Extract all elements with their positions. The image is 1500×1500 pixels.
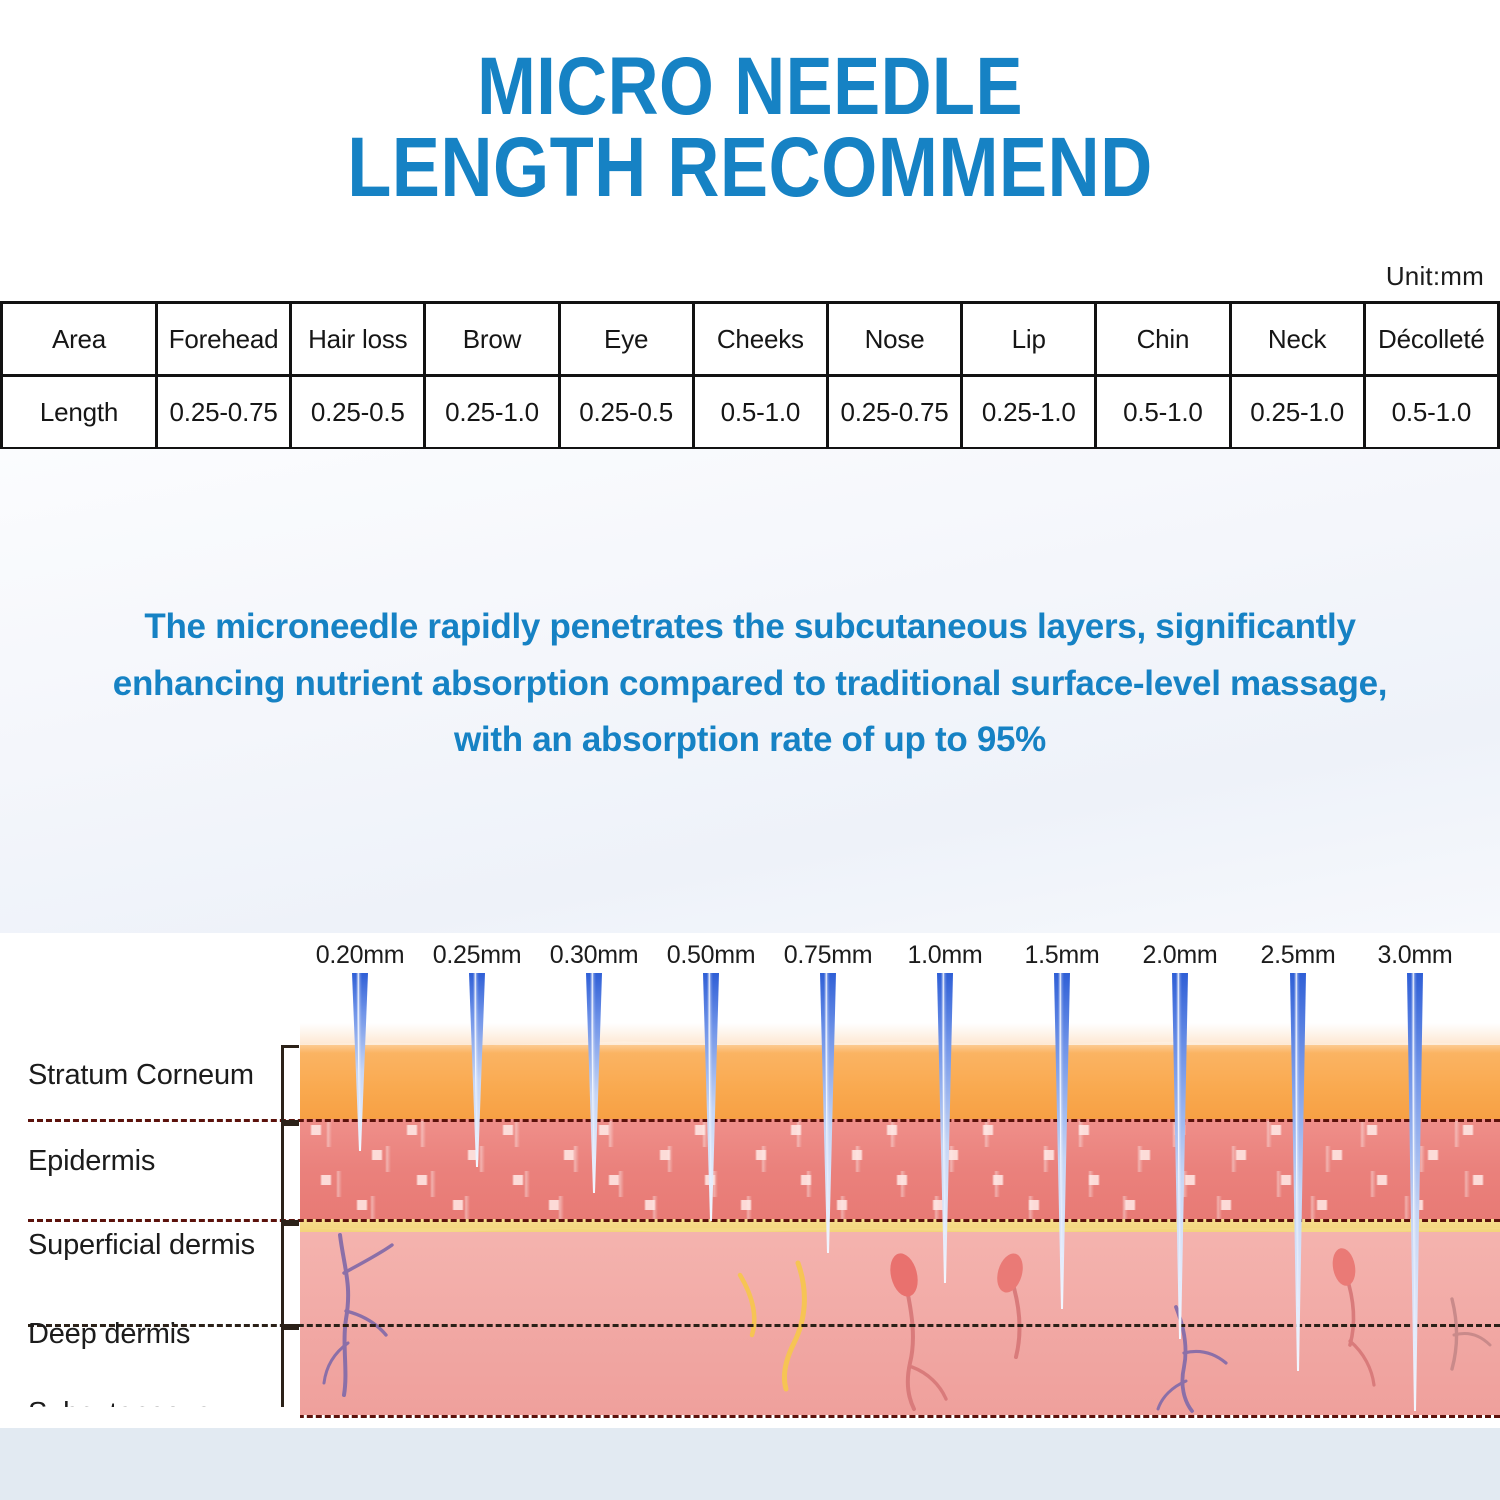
layer-label-deep-dermis: Deep dermis <box>28 1318 190 1352</box>
cell-area-forehead: Forehead <box>157 303 291 376</box>
layer-label-column: Stratum Corneum Epidermis Superficial de… <box>0 1023 300 1423</box>
cell-length-lip: 0.25-1.0 <box>962 376 1096 449</box>
needle-label-5: 1.0mm <box>908 941 983 970</box>
cell-area-hair-loss: Hair loss <box>291 303 425 376</box>
cell-area-eye: Eye <box>559 303 693 376</box>
epidermis-cell-row <box>300 1171 1500 1197</box>
cell-area-cheeks: Cheeks <box>693 303 827 376</box>
needle-label-row: 0.20mm 0.25mm 0.30mm 0.50mm 0.75mm 1.0mm… <box>0 941 1500 981</box>
cell-length-decollete: 0.5-1.0 <box>1364 376 1498 449</box>
needle-2 <box>574 973 614 1195</box>
needle-label-1: 0.25mm <box>433 941 522 970</box>
needle-label-4: 0.75mm <box>784 941 873 970</box>
cell-area-decollete: Décolleté <box>1364 303 1498 376</box>
cell-length-hair-loss: 0.25-0.5 <box>291 376 425 449</box>
cell-area-lip: Lip <box>962 303 1096 376</box>
layer-label-stratum-corneum: Stratum Corneum <box>28 1059 254 1093</box>
page-title: MICRO NEEDLE LENGTH RECOMMEND <box>0 48 1500 207</box>
needle-length-table: Area Forehead Hair loss Brow Eye Cheeks … <box>0 301 1500 450</box>
needle-6 <box>1042 973 1082 1311</box>
infographic-page: MICRO NEEDLE LENGTH RECOMMEND Unit:mm Ar… <box>0 0 1500 1500</box>
layer-superficial-dermis <box>300 1232 1500 1324</box>
bottom-strip <box>0 1428 1500 1500</box>
cell-length-brow: 0.25-1.0 <box>425 376 559 449</box>
cell-length-nose: 0.25-0.75 <box>827 376 961 449</box>
cell-area-chin: Chin <box>1096 303 1230 376</box>
layer-label-superficial-dermis: Superficial dermis <box>28 1229 255 1263</box>
row-header-length: Length <box>2 376 157 449</box>
needle-7 <box>1160 973 1200 1341</box>
needle-label-0: 0.20mm <box>316 941 405 970</box>
row-header-area: Area <box>2 303 157 376</box>
bracket-superficial-dermis <box>281 1223 299 1327</box>
cell-length-neck: 0.25-1.0 <box>1230 376 1364 449</box>
description-text: The microneedle rapidly penetrates the s… <box>100 599 1400 769</box>
needle-1 <box>457 973 497 1169</box>
cell-area-neck: Neck <box>1230 303 1364 376</box>
cell-length-forehead: 0.25-0.75 <box>157 376 291 449</box>
layer-deep-dermis <box>300 1324 1500 1415</box>
needle-5 <box>925 973 965 1285</box>
cell-length-eye: 0.25-0.5 <box>559 376 693 449</box>
table-row-area: Area Forehead Hair loss Brow Eye Cheeks … <box>2 303 1499 376</box>
needle-9 <box>1395 973 1435 1413</box>
cell-area-nose: Nose <box>827 303 961 376</box>
unit-caption: Unit:mm <box>1386 261 1484 292</box>
needle-8 <box>1278 973 1318 1373</box>
skin-cross-section-diagram: 0.20mm 0.25mm 0.30mm 0.50mm 0.75mm 1.0mm… <box>0 933 1500 1428</box>
cell-length-cheeks: 0.5-1.0 <box>693 376 827 449</box>
layer-label-epidermis: Epidermis <box>28 1145 155 1179</box>
needle-label-3: 0.50mm <box>667 941 756 970</box>
needle-label-8: 2.5mm <box>1261 941 1336 970</box>
cell-length-chin: 0.5-1.0 <box>1096 376 1230 449</box>
needle-label-2: 0.30mm <box>550 941 639 970</box>
diagram-left-filler <box>0 1407 300 1428</box>
needle-label-6: 1.5mm <box>1025 941 1100 970</box>
needle-label-9: 3.0mm <box>1378 941 1453 970</box>
needle-3 <box>691 973 731 1223</box>
title-line-1: MICRO NEEDLE <box>105 48 1395 127</box>
table-row-length: Length 0.25-0.75 0.25-0.5 0.25-1.0 0.25-… <box>2 376 1499 449</box>
needle-label-7: 2.0mm <box>1143 941 1218 970</box>
bracket-deep-dermis <box>281 1327 299 1418</box>
bracket-stratum-corneum <box>281 1045 299 1123</box>
needle-0 <box>340 973 380 1153</box>
title-line-2: LENGTH RECOMMEND <box>105 127 1395 208</box>
needle-4 <box>808 973 848 1255</box>
description-band: The microneedle rapidly penetrates the s… <box>0 449 1500 935</box>
bracket-epidermis <box>281 1123 299 1223</box>
cell-area-brow: Brow <box>425 303 559 376</box>
